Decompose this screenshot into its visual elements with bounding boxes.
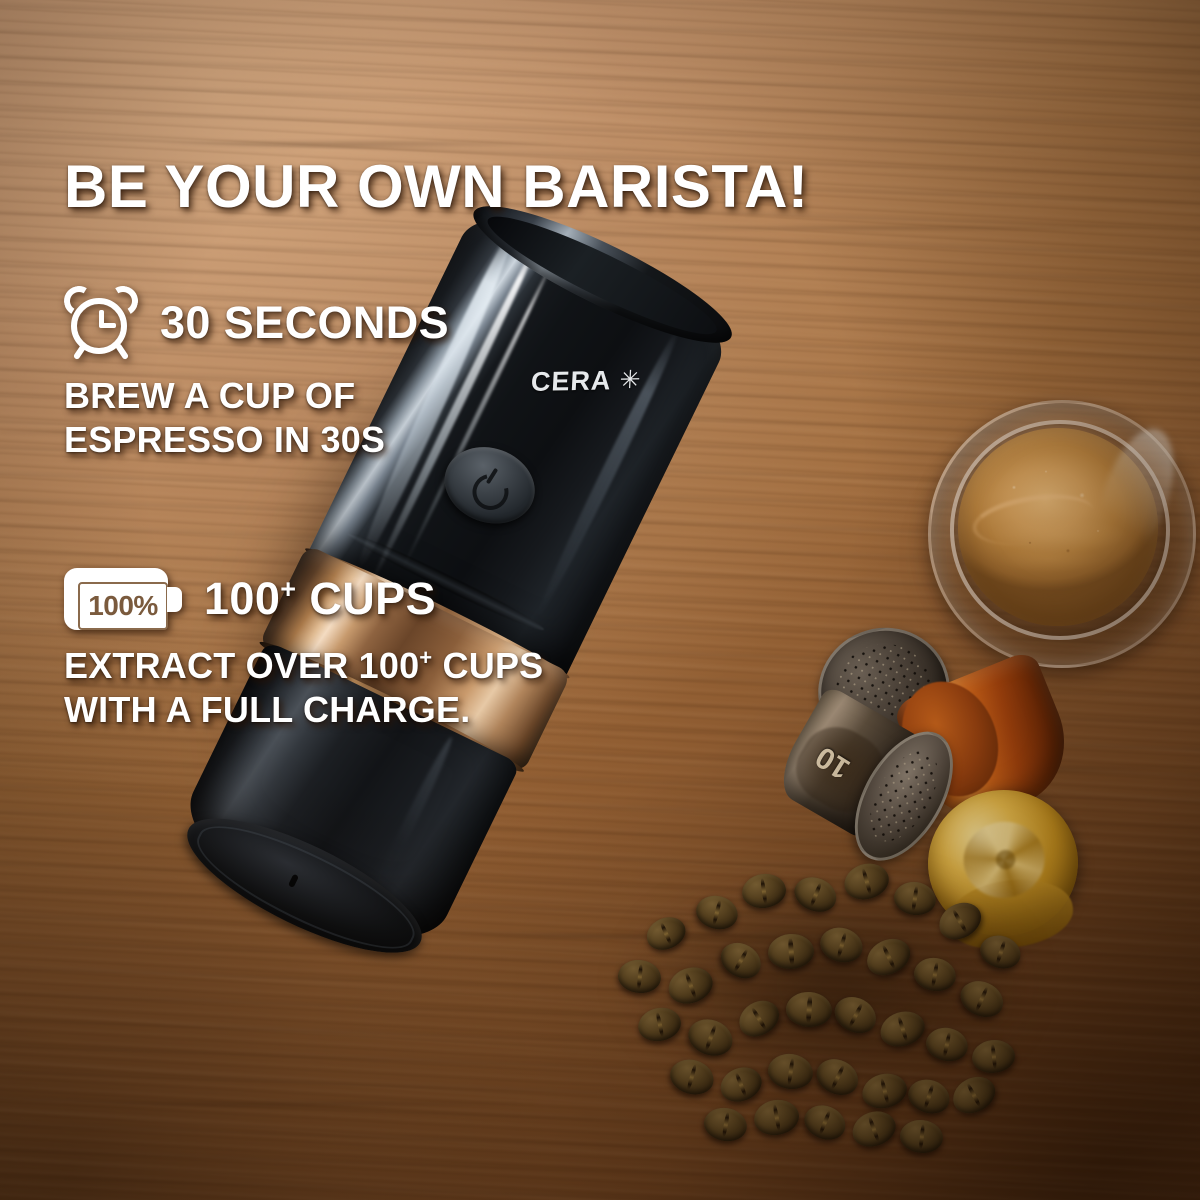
feature-title-number: 100 xyxy=(204,573,280,624)
feature-desc-line1-b: CUPS xyxy=(432,645,543,686)
feature-desc-line1-a: EXTRACT OVER 100 xyxy=(64,645,419,686)
feature-heading-row: 100% 100+ CUPS xyxy=(64,568,543,630)
alarm-leg-left xyxy=(73,343,87,360)
alarm-clock-icon xyxy=(64,286,138,360)
feature-30-seconds: 30 SECONDS BREW A CUP OF ESPRESSO IN 30S xyxy=(64,286,449,462)
feature-title-plus: + xyxy=(280,574,296,604)
feature-description: BREW A CUP OF ESPRESSO IN 30S xyxy=(64,374,449,462)
feature-desc-plus: + xyxy=(419,645,432,670)
battery-terminal xyxy=(167,587,182,612)
battery-100-icon: 100% xyxy=(64,568,182,630)
feature-desc-line2: WITH A FULL CHARGE. xyxy=(64,689,470,730)
feature-heading-row: 30 SECONDS xyxy=(64,286,449,360)
page-headline: BE YOUR OWN BARISTA! xyxy=(64,152,808,221)
feature-title: 100+ CUPS xyxy=(204,573,436,625)
alarm-leg-right xyxy=(115,343,129,360)
battery-fill: 100% xyxy=(78,582,168,630)
alarm-hand-hour xyxy=(99,323,116,328)
product-marketing-poster: 10 CERA ✳ xyxy=(0,0,1200,1200)
feature-100-cups: 100% 100+ CUPS EXTRACT OVER 100+ CUPSWIT… xyxy=(64,568,543,732)
feature-title: 30 SECONDS xyxy=(160,297,449,349)
battery-shell: 100% xyxy=(64,568,168,630)
feature-title-rest: CUPS xyxy=(296,573,436,624)
battery-percent-label: 100% xyxy=(88,590,158,622)
feature-description: EXTRACT OVER 100+ CUPSWITH A FULL CHARGE… xyxy=(64,644,543,732)
